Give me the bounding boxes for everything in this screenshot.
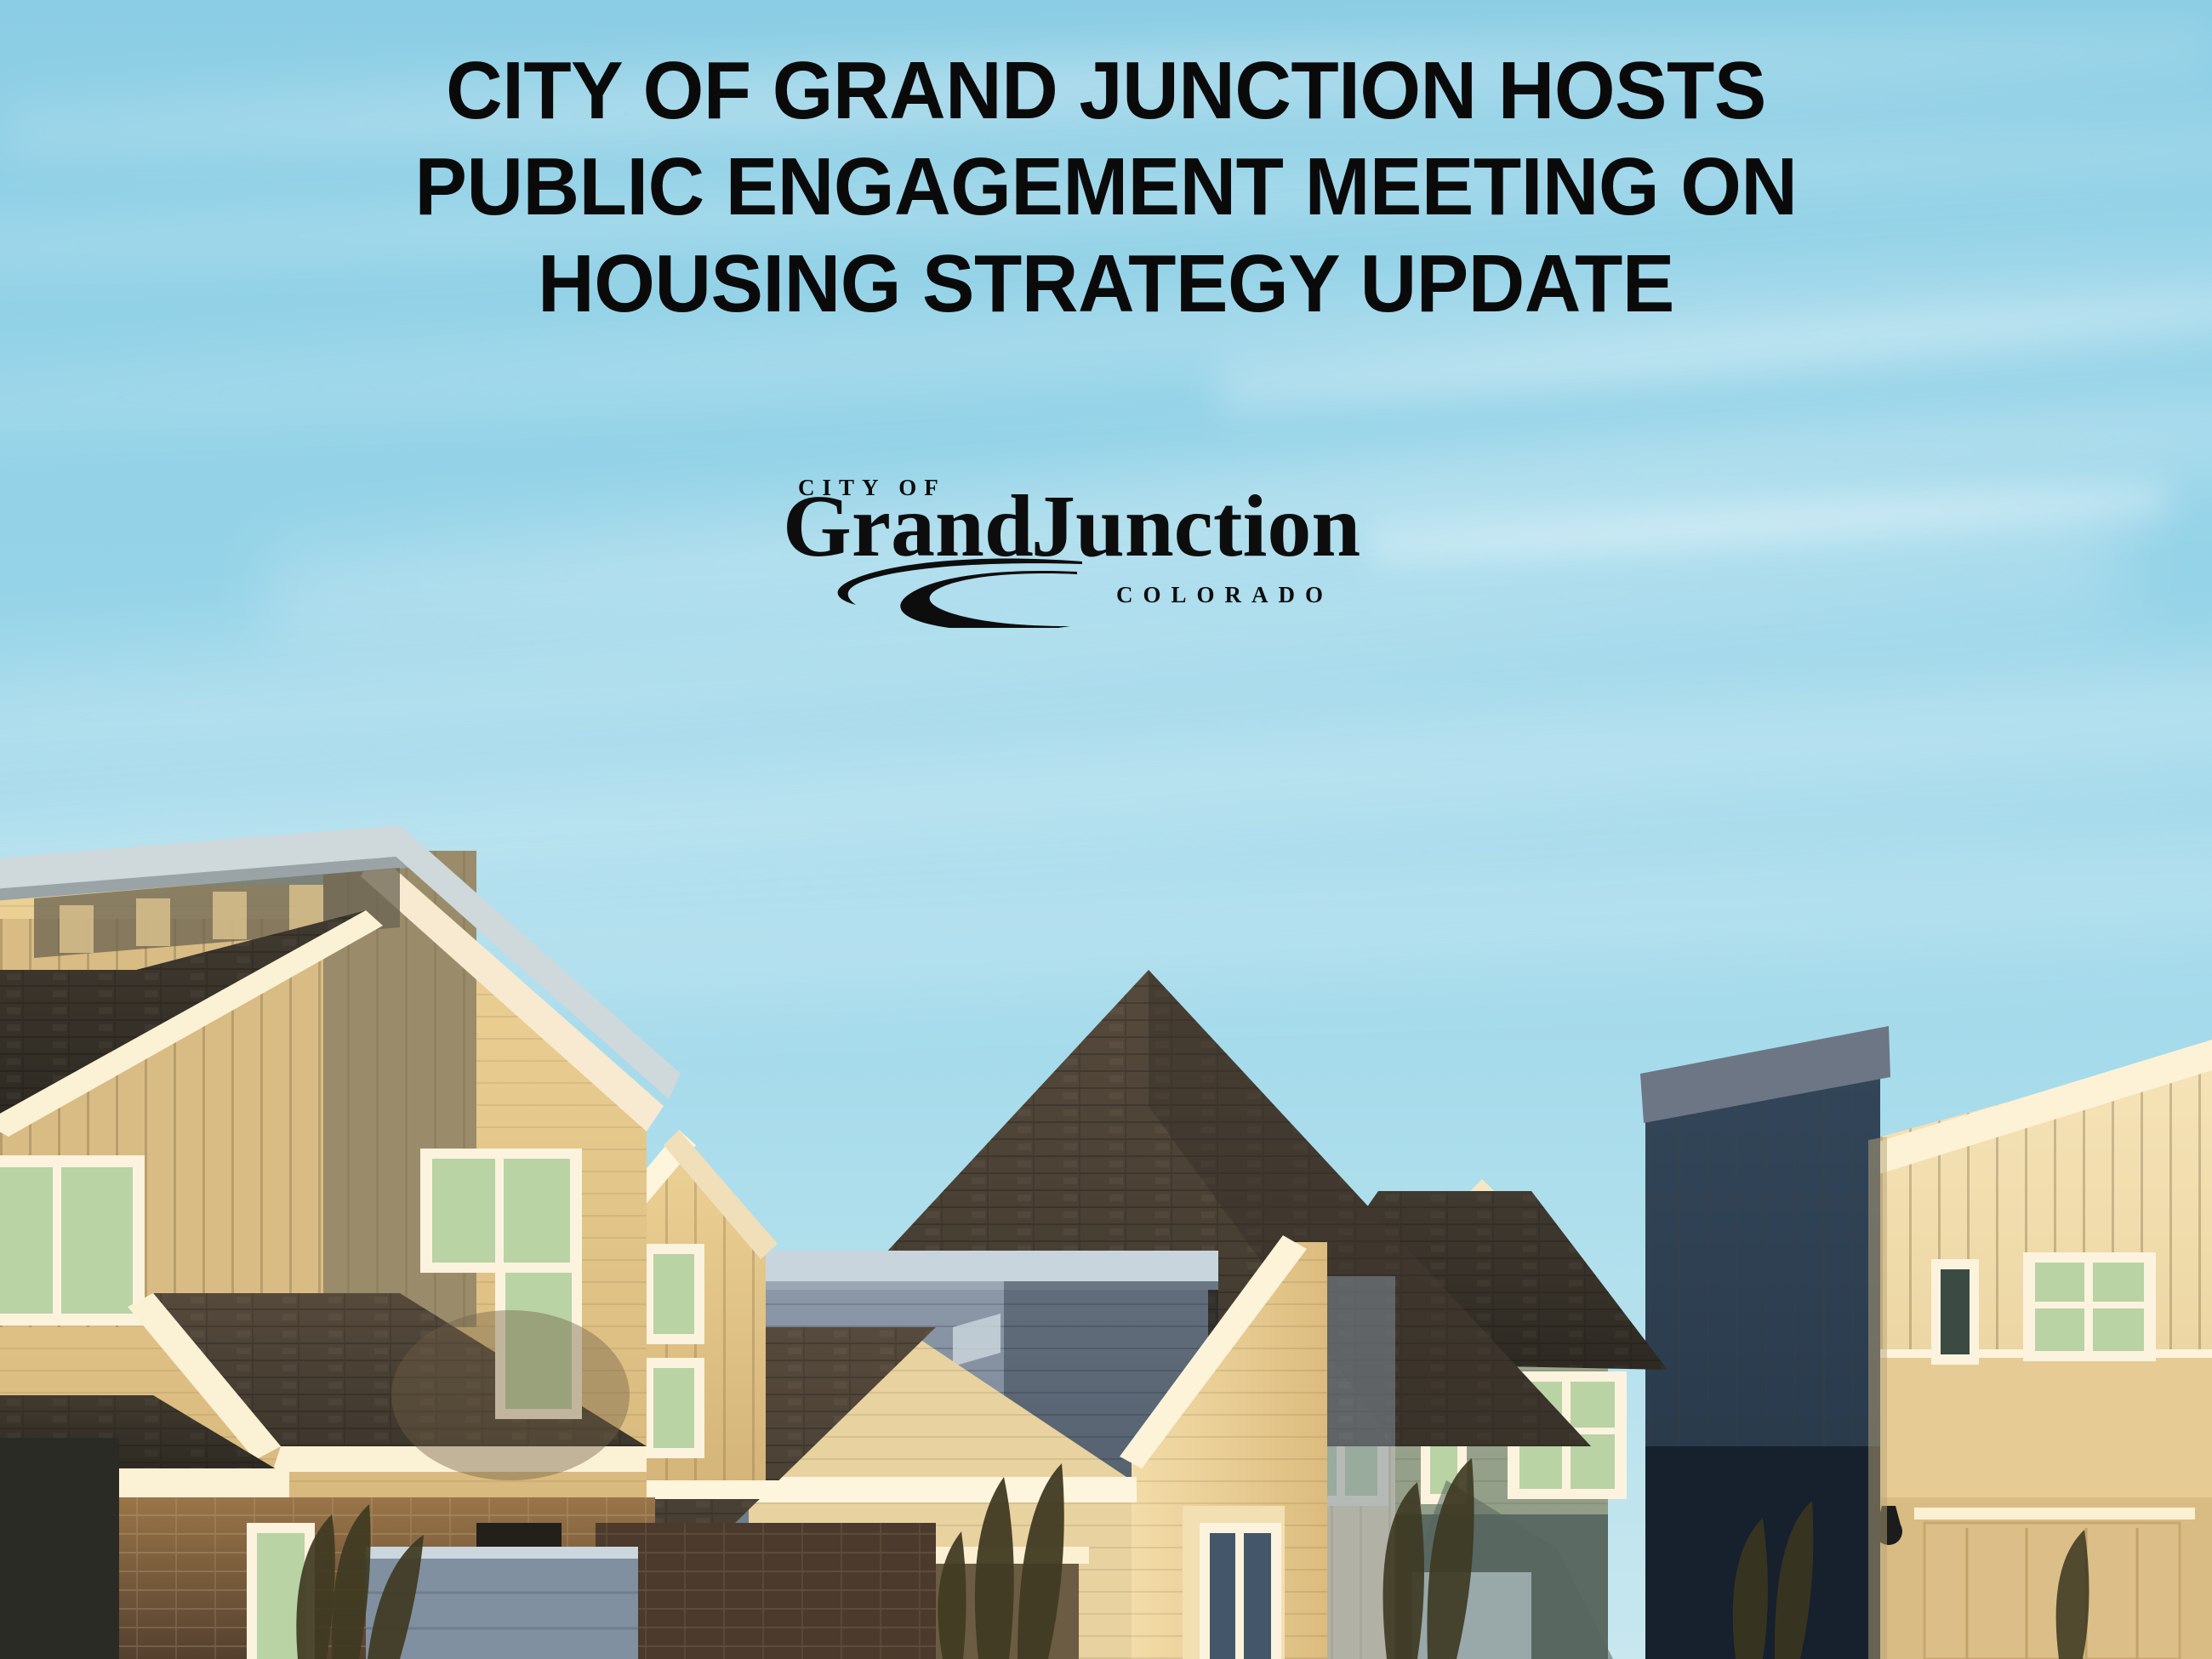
logo-state-text: COLORADO bbox=[1116, 582, 1333, 607]
house-left-main bbox=[0, 825, 936, 1659]
headline-line-3: HOUSING STRATEGY UPDATE bbox=[167, 236, 2045, 332]
window bbox=[1200, 1523, 1281, 1659]
headline-line-1: CITY OF GRAND JUNCTION HOSTS bbox=[167, 43, 2045, 139]
city-of-grand-junction-logo: CITY OF Grand Junction COLORADO bbox=[783, 466, 1429, 628]
window bbox=[0, 1155, 145, 1325]
window bbox=[2023, 1252, 2156, 1361]
window bbox=[643, 1244, 704, 1344]
house-far-right bbox=[1861, 1040, 2212, 1659]
page-title: CITY OF GRAND JUNCTION HOSTS PUBLIC ENGA… bbox=[44, 43, 2168, 332]
logo-wordmark-junction: Junction bbox=[1031, 477, 1360, 575]
social-graphic: CITY OF GRAND JUNCTION HOSTS PUBLIC ENGA… bbox=[0, 0, 2212, 1659]
window bbox=[1931, 1259, 1979, 1365]
window bbox=[643, 1358, 704, 1458]
headline-line-2: PUBLIC ENGAGEMENT MEETING ON bbox=[167, 139, 2045, 235]
